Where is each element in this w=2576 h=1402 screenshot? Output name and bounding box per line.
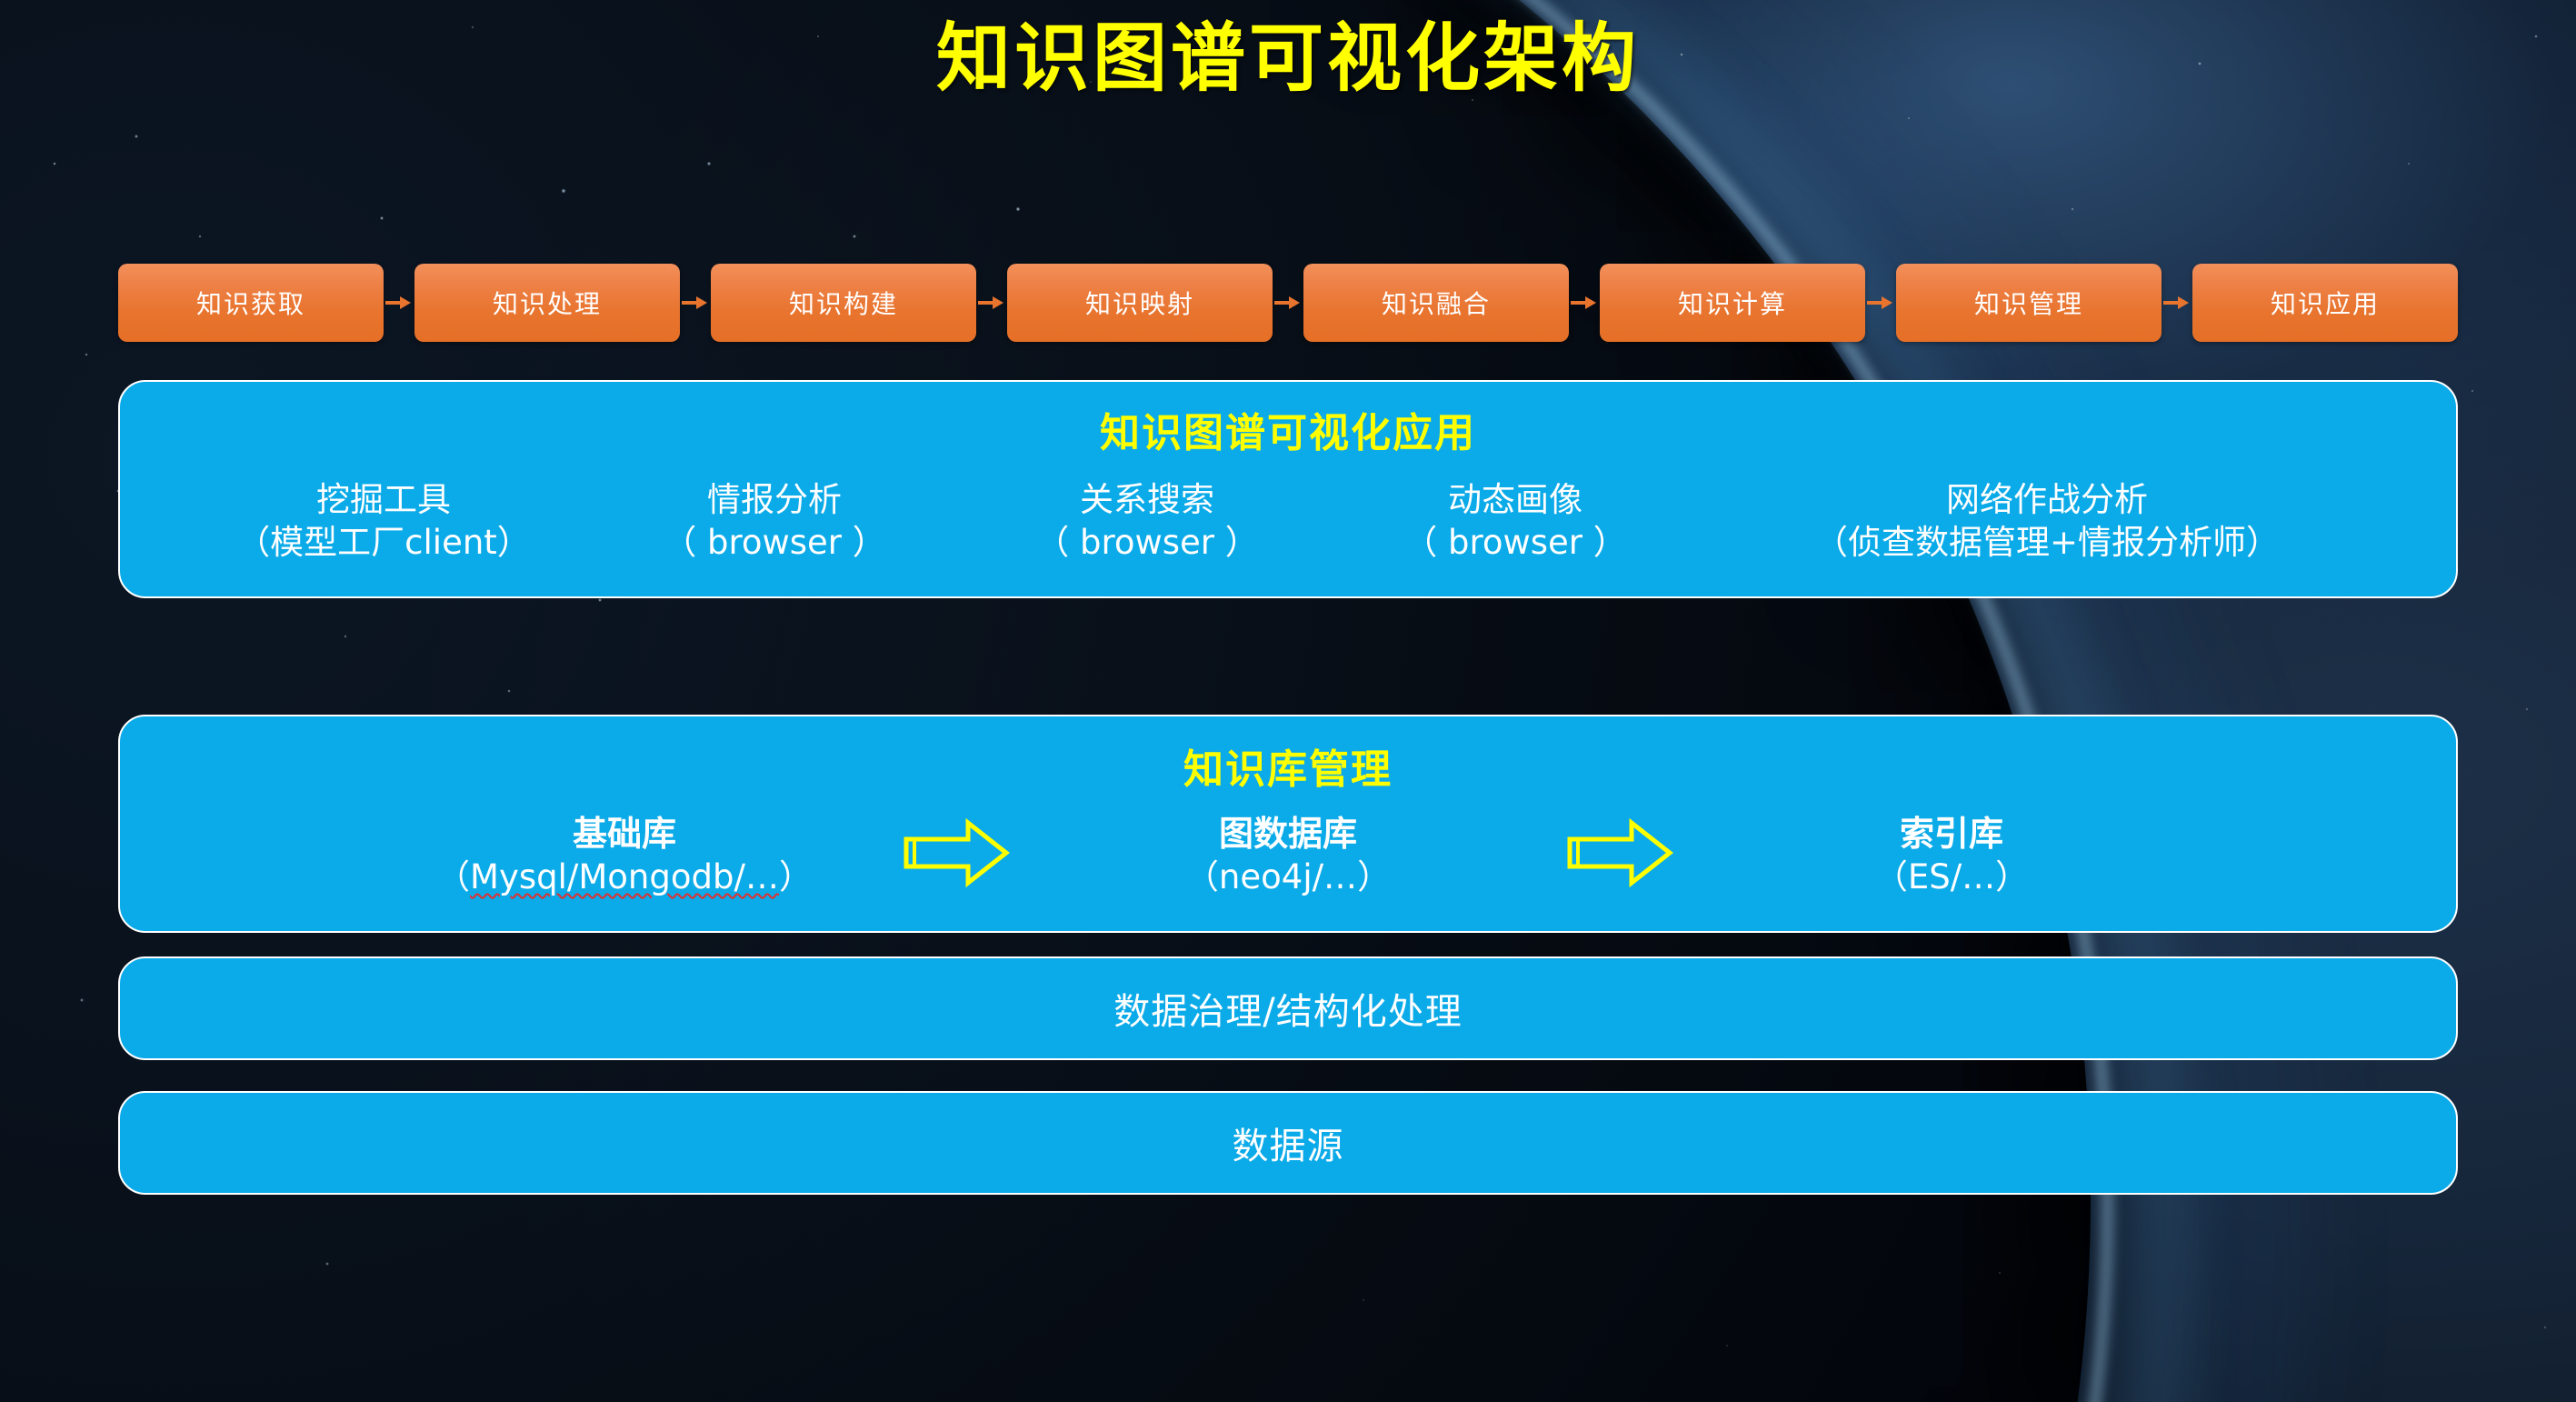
application-layer-panel: 知识图谱可视化应用 挖掘工具 （模型工厂client） 情报分析 （ brows…: [118, 380, 2458, 598]
application-item-relation-search[interactable]: 关系搜索 （ browser ）: [965, 478, 1329, 565]
pipeline-step-label: 知识融合: [1382, 285, 1491, 321]
pipeline-arrow-icon: [1865, 264, 1896, 342]
knowledge-base-item-index-store[interactable]: 索引库 （ES/…）: [1697, 813, 2206, 898]
application-item-name: 挖掘工具: [316, 480, 451, 519]
pipeline-step-label: 知识获取: [196, 285, 305, 321]
application-item-impl: （ browser ）: [965, 521, 1329, 564]
knowledge-base-item-impl: （Mysql/Mongodb/…）: [370, 856, 879, 899]
application-item-impl: （ browser ）: [584, 521, 965, 564]
pipeline-arrow-icon: [976, 264, 1007, 342]
knowledge-base-item-graph-db[interactable]: 图数据库 （neo4j/…）: [1033, 813, 1543, 898]
knowledge-base-item-name: 索引库: [1697, 813, 2206, 856]
pipeline-step-compute[interactable]: 知识计算: [1600, 264, 1865, 342]
pipeline-arrow-icon: [680, 264, 711, 342]
application-item-mining-tool[interactable]: 挖掘工具 （模型工厂client）: [184, 478, 584, 565]
pipeline-step-label: 知识管理: [1974, 285, 2083, 321]
pipeline-step-label: 知识应用: [2271, 285, 2380, 321]
pipeline-step-label: 知识计算: [1678, 285, 1787, 321]
pipeline-step-manage[interactable]: 知识管理: [1896, 264, 2162, 342]
knowledge-pipeline: 知识获取 知识处理 知识构建 知识映射 知识融合 知识计算: [118, 264, 2458, 342]
knowledge-base-item-impl: （neo4j/…）: [1033, 856, 1543, 899]
pipeline-step-label: 知识处理: [493, 285, 602, 321]
pipeline-step-fusion[interactable]: 知识融合: [1303, 264, 1569, 342]
spellcheck-underlined-text: Mysql/Mongodb/…: [470, 857, 779, 896]
source-layer-panel: 数据源: [118, 1091, 2458, 1195]
pipeline-step-label: 知识映射: [1085, 285, 1194, 321]
governance-layer-label: 数据治理/结构化处理: [120, 958, 2456, 1058]
knowledge-base-item-base-store[interactable]: 基础库 （Mysql/Mongodb/…）: [370, 813, 879, 898]
pipeline-step-application[interactable]: 知识应用: [2192, 264, 2458, 342]
pipeline-arrow-icon: [1569, 264, 1600, 342]
right-arrow-icon: [1543, 817, 1697, 894]
knowledge-base-item-row: 基础库 （Mysql/Mongodb/…） 图数据库 （neo4j/…）: [120, 813, 2456, 898]
application-layer-title: 知识图谱可视化应用: [120, 400, 2456, 458]
application-item-impl: （ browser ）: [1329, 521, 1702, 564]
pipeline-arrow-icon: [1273, 264, 1303, 342]
application-item-row: 挖掘工具 （模型工厂client） 情报分析 （ browser ） 关系搜索 …: [120, 478, 2456, 565]
pipeline-step-process[interactable]: 知识处理: [414, 264, 680, 342]
source-layer-label: 数据源: [120, 1093, 2456, 1193]
application-item-name: 情报分析: [707, 480, 842, 519]
application-item-name: 网络作战分析: [1946, 480, 2148, 519]
slide-canvas: 知识图谱可视化架构 知识获取 知识处理 知识构建 知识映射 知识融合: [0, 0, 2576, 1402]
knowledge-base-layer-title: 知识库管理: [120, 736, 2456, 795]
knowledge-base-layer-panel: 知识库管理 基础库 （Mysql/Mongodb/…） 图数据库 （neo4j/…: [118, 715, 2458, 933]
pipeline-arrow-icon: [2162, 264, 2192, 342]
pipeline-step-label: 知识构建: [789, 285, 898, 321]
knowledge-base-item-impl: （ES/…）: [1697, 856, 2206, 899]
application-item-cyber-operations-analysis[interactable]: 网络作战分析 （侦查数据管理+情报分析师）: [1702, 478, 2392, 565]
knowledge-base-item-name: 基础库: [370, 813, 879, 856]
impl-text: neo4j/…: [1219, 857, 1357, 896]
pipeline-step-mapping[interactable]: 知识映射: [1007, 264, 1273, 342]
application-item-impl: （模型工厂client）: [184, 521, 584, 564]
application-item-name: 动态画像: [1448, 480, 1583, 519]
application-item-name: 关系搜索: [1080, 480, 1214, 519]
pipeline-arrow-icon: [384, 264, 414, 342]
impl-text: ES/…: [1908, 857, 1995, 896]
application-item-intel-analysis[interactable]: 情报分析 （ browser ）: [584, 478, 965, 565]
page-title: 知识图谱可视化架构: [0, 16, 2576, 102]
application-item-dynamic-portrait[interactable]: 动态画像 （ browser ）: [1329, 478, 1702, 565]
pipeline-step-construct[interactable]: 知识构建: [711, 264, 976, 342]
knowledge-base-item-name: 图数据库: [1033, 813, 1543, 856]
application-item-impl: （侦查数据管理+情报分析师）: [1702, 521, 2392, 564]
pipeline-step-acquire[interactable]: 知识获取: [118, 264, 384, 342]
governance-layer-panel: 数据治理/结构化处理: [118, 956, 2458, 1060]
right-arrow-icon: [879, 817, 1033, 894]
